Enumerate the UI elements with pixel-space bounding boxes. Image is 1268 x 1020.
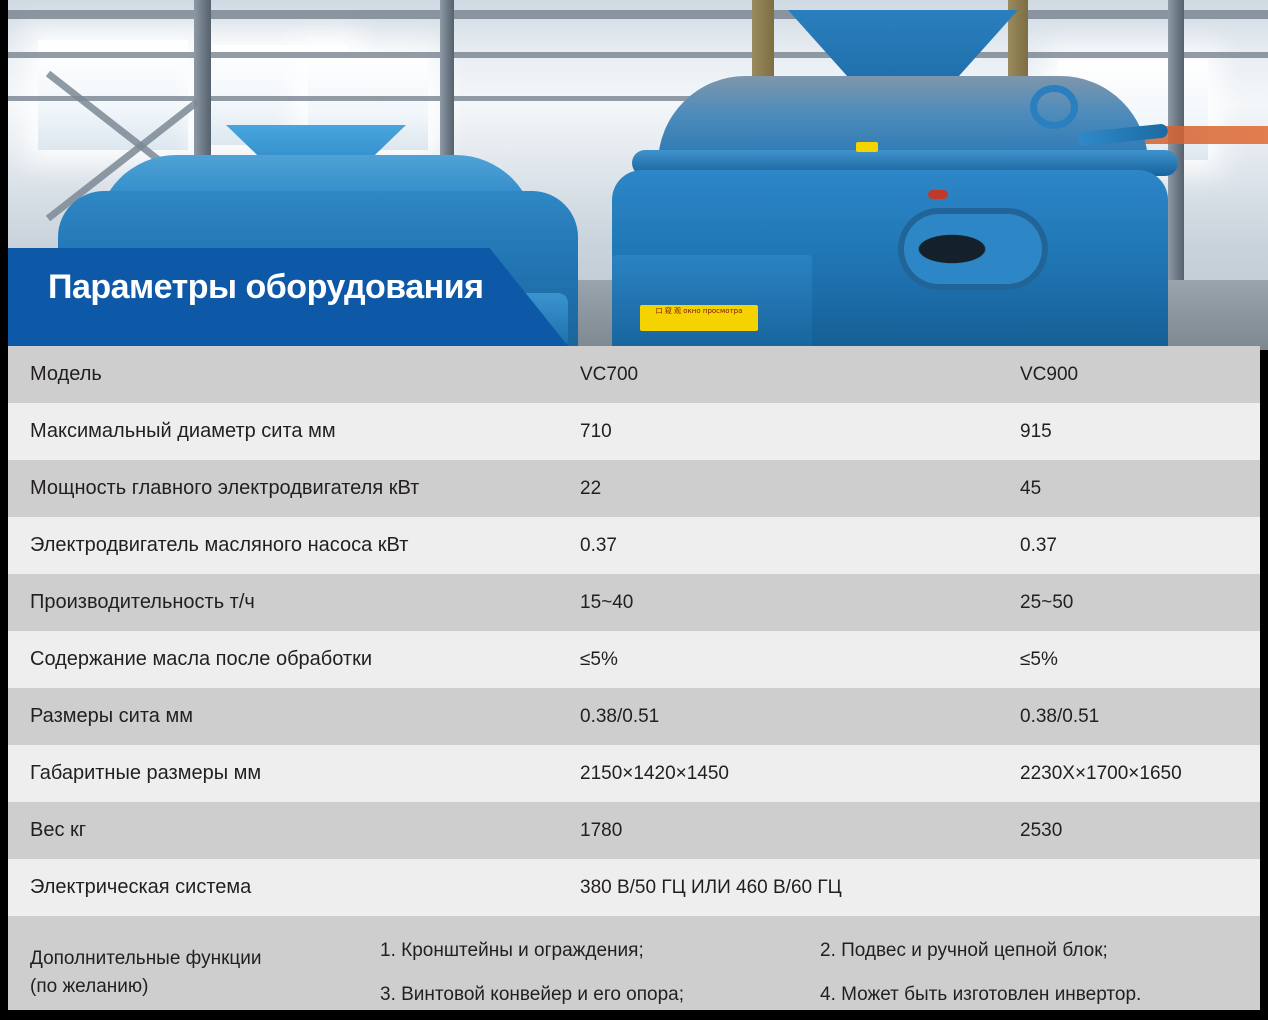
table-row: Содержание масла после обработки ≤5% ≤5% (8, 631, 1260, 688)
row-value-vc900: 25~50 (1020, 592, 1260, 614)
machine-right-outlet-flange (898, 208, 1048, 290)
row-value-vc700: 0.37 (580, 535, 1020, 557)
row-label: Размеры сита мм (8, 705, 580, 728)
optional-functions-title-line2: (по желанию) (30, 973, 380, 1001)
table-row: Габаритные размеры мм 2150×1420×1450 223… (8, 745, 1260, 802)
table-row: Электродвигатель масляного насоса кВт 0.… (8, 517, 1260, 574)
optional-functions-title: Дополнительные функции (по желанию) (8, 945, 380, 1001)
optional-functions-section: Дополнительные функции (по желанию) 1. К… (8, 916, 1260, 1010)
optional-functions-column-1: 1. Кронштейны и ограждения; 3. Винтовой … (380, 929, 820, 1010)
row-value-vc900: 0.37 (1020, 535, 1260, 557)
row-value-vc700: 1780 (580, 820, 1020, 842)
row-label: Электрическая система (8, 876, 580, 899)
optional-functions-title-line1: Дополнительные функции (30, 945, 380, 973)
machine-right: 口 窥 观 окно просмотра (598, 10, 1218, 350)
row-label: Электродвигатель масляного насоса кВт (8, 534, 580, 557)
machine-right-marker (928, 190, 948, 199)
machine-right-hopper (788, 10, 1018, 82)
row-value-vc900: 45 (1020, 478, 1260, 500)
row-label: Максимальный диаметр сита мм (8, 420, 580, 443)
row-label: Модель (8, 363, 580, 386)
spec-sheet-page: 口 窥 观 окно просмотра Параметры оборудова… (0, 0, 1268, 1020)
optional-function-item: 3. Винтовой конвейер и его опора; (380, 973, 820, 1010)
row-value-electrical: 380 В/50 ГЦ ИЛИ 460 В/60 ГЦ (580, 877, 1260, 899)
row-value-vc900: VC900 (1020, 364, 1260, 386)
specifications-table: Модель VC700 VC900 Максимальный диаметр … (8, 346, 1260, 1010)
optional-function-item: 1. Кронштейны и ограждения; (380, 929, 820, 973)
machine-right-warning-label (856, 142, 878, 152)
table-row: Модель VC700 VC900 (8, 346, 1260, 403)
optional-functions-column-2: 2. Подвес и ручной цепной блок; 4. Может… (820, 929, 1240, 1010)
row-value-vc900: 915 (1020, 421, 1260, 443)
row-value-vc700: 2150×1420×1450 (580, 763, 1020, 785)
inspection-window-label-text: 口 窥 观 окно просмотра (640, 305, 758, 316)
machine-right-access-door (612, 255, 812, 350)
row-value-vc700: 0.38/0.51 (580, 706, 1020, 728)
optional-function-item: 2. Подвес и ручной цепной блок; (820, 929, 1240, 973)
row-label: Габаритные размеры мм (8, 762, 580, 785)
table-row: Максимальный диаметр сита мм 710 915 (8, 403, 1260, 460)
row-label: Содержание масла после обработки (8, 648, 580, 671)
row-label: Вес кг (8, 819, 580, 842)
page-title: Параметры оборудования (48, 268, 483, 307)
table-row: Размеры сита мм 0.38/0.51 0.38/0.51 (8, 688, 1260, 745)
row-value-vc900: 2230X×1700×1650 (1020, 763, 1260, 785)
row-value-vc900: 0.38/0.51 (1020, 706, 1260, 728)
machine-right-lifting-lug (1030, 85, 1078, 129)
table-row: Мощность главного электродвигателя кВт 2… (8, 460, 1260, 517)
row-value-vc700: 15~40 (580, 592, 1020, 614)
row-value-vc900: 2530 (1020, 820, 1260, 842)
table-row: Производительность т/ч 15~40 25~50 (8, 574, 1260, 631)
row-value-vc700: 710 (580, 421, 1020, 443)
inspection-window-label: 口 窥 观 окно просмотра (640, 305, 758, 331)
row-label: Производительность т/ч (8, 591, 580, 614)
table-row: Вес кг 1780 2530 (8, 802, 1260, 859)
row-value-vc700: 22 (580, 478, 1020, 500)
optional-function-item: 4. Может быть изготовлен инвертор. (820, 973, 1240, 1010)
row-value-vc700: ≤5% (580, 649, 1020, 671)
table-row-electrical: Электрическая система 380 В/50 ГЦ ИЛИ 46… (8, 859, 1260, 916)
row-label: Мощность главного электродвигателя кВт (8, 477, 580, 500)
row-value-vc700: VC700 (580, 364, 1020, 386)
row-value-vc900: ≤5% (1020, 649, 1260, 671)
